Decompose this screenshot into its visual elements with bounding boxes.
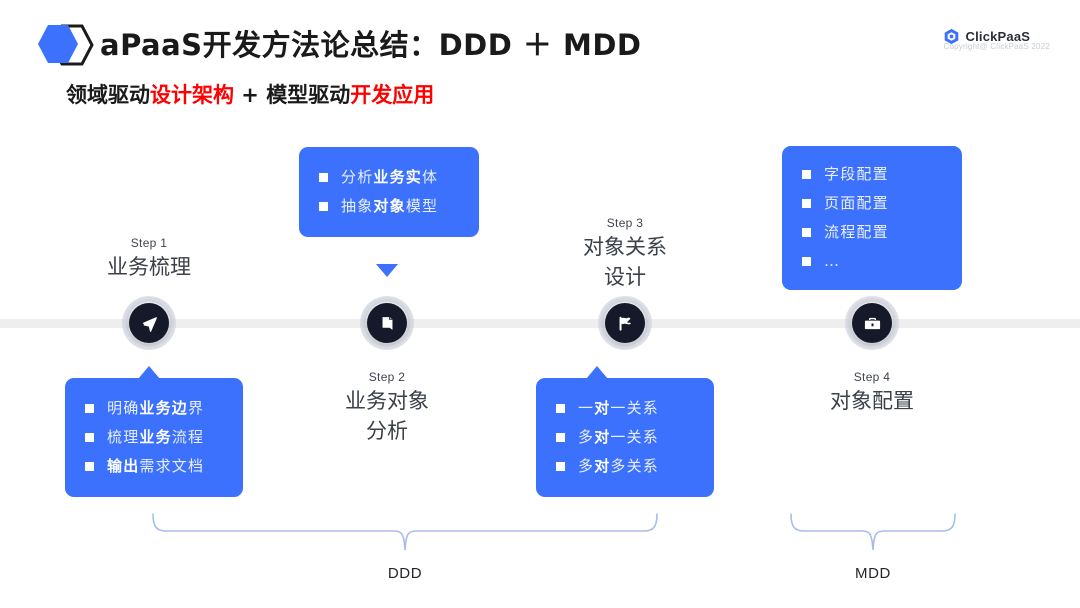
step-number-4: Step 4 xyxy=(782,368,962,386)
step-caption-2: Step 2 业务对象 分析 xyxy=(297,368,477,446)
callout-list-3: 一对一关系 多对一关系 多对多关系 xyxy=(556,394,696,481)
brace-label-ddd: DDD xyxy=(305,565,505,582)
briefcase-icon xyxy=(852,303,892,343)
item-text-a: 流程配置 xyxy=(824,218,889,247)
subtitle-part-1: 领域驱动 xyxy=(66,83,150,107)
bullet-square-icon xyxy=(85,404,94,413)
list-item: 明确业务边界 xyxy=(85,394,225,423)
bullet-square-icon xyxy=(802,228,811,237)
bullet-square-icon xyxy=(802,199,811,208)
subtitle-part-4: 模型驱动 xyxy=(266,83,350,107)
page-subtitle: 领域驱动设计架构 + 模型驱动开发应用 xyxy=(66,79,434,109)
item-text-b: 对 xyxy=(594,452,610,481)
copyright-text: Copyright@ ClickPaaS 2022 xyxy=(943,42,1050,51)
item-text-a: 字段配置 xyxy=(824,160,889,189)
item-text-c: 流程 xyxy=(172,423,204,452)
list-item: 输出需求文档 xyxy=(85,452,225,481)
item-text-c: 需求文档 xyxy=(139,452,204,481)
item-text-a: 多 xyxy=(578,452,594,481)
item-text-b: 业务 xyxy=(139,423,171,452)
bullet-square-icon xyxy=(85,462,94,471)
callout-box-step-1: 明确业务边界 梳理业务流程 输出需求文档 xyxy=(65,378,243,497)
list-item: 多对一关系 xyxy=(556,423,696,452)
item-text-b: 输出 xyxy=(107,452,139,481)
timeline-node-step-3[interactable] xyxy=(598,296,652,350)
slide-canvas: aPaaS开发方法论总结：DDD ＋ MDD 领域驱动设计架构 + 模型驱动开发… xyxy=(0,0,1080,608)
subtitle-part-2: 设计架构 xyxy=(150,83,234,107)
callout-list-2: 分析业务实体 抽象对象模型 xyxy=(319,163,461,221)
item-text-b: 对 xyxy=(594,394,610,423)
bullet-square-icon xyxy=(556,404,565,413)
item-text-c: 体 xyxy=(422,163,438,192)
bullet-square-icon xyxy=(319,173,328,182)
step-caption-1: Step 1 业务梳理 xyxy=(59,234,239,282)
item-text-c: 一关系 xyxy=(610,394,659,423)
list-item: 一对一关系 xyxy=(556,394,696,423)
bullet-square-icon xyxy=(556,462,565,471)
callout-tail-2 xyxy=(376,264,398,277)
page-title: aPaaS开发方法论总结：DDD ＋ MDD xyxy=(100,22,641,64)
item-text-a: 页面配置 xyxy=(824,189,889,218)
step-title-4: 对象配置 xyxy=(782,386,962,416)
list-item: 多对多关系 xyxy=(556,452,696,481)
item-text-b: 业务边 xyxy=(139,394,188,423)
bullet-square-icon xyxy=(85,433,94,442)
list-item: 梳理业务流程 xyxy=(85,423,225,452)
item-text-a: 分析 xyxy=(341,163,373,192)
item-text-a: … xyxy=(824,247,840,276)
bullet-square-icon xyxy=(556,433,565,442)
bullet-square-icon xyxy=(802,170,811,179)
list-item: 抽象对象模型 xyxy=(319,192,461,221)
step-number-3: Step 3 xyxy=(535,214,715,232)
brand-watermark: ClickPaaS Copyright@ ClickPaaS 2022 xyxy=(943,28,1050,51)
step-title-1: 业务梳理 xyxy=(59,252,239,282)
step-caption-4: Step 4 对象配置 xyxy=(782,368,962,416)
brace-ddd xyxy=(150,512,660,552)
item-text-a: 多 xyxy=(578,423,594,452)
step-title-3: 对象关系 设计 xyxy=(535,232,715,292)
step-number-1: Step 1 xyxy=(59,234,239,252)
timeline-node-step-2[interactable] xyxy=(360,296,414,350)
callout-box-step-2: 分析业务实体 抽象对象模型 xyxy=(299,147,479,237)
callout-tail-4 xyxy=(860,269,882,282)
list-item: 页面配置 xyxy=(802,189,944,218)
bullet-square-icon xyxy=(802,257,811,266)
item-text-b: 对象 xyxy=(373,192,405,221)
item-text-c: 一关系 xyxy=(610,423,659,452)
step-number-2: Step 2 xyxy=(297,368,477,386)
hexagon-logo-icon xyxy=(34,22,96,68)
subtitle-part-5: 开发应用 xyxy=(350,83,434,107)
item-text-c: 模型 xyxy=(406,192,438,221)
callout-list-4: 字段配置 页面配置 流程配置 … xyxy=(802,160,944,276)
subtitle-part-3: + xyxy=(234,83,266,107)
item-text-a: 明确 xyxy=(107,394,139,423)
item-text-b: 业务实 xyxy=(373,163,422,192)
brace-label-mdd: MDD xyxy=(773,565,973,582)
item-text-a: 抽象 xyxy=(341,192,373,221)
timeline-node-step-4[interactable] xyxy=(845,296,899,350)
item-text-c: 多关系 xyxy=(610,452,659,481)
timeline-node-step-1[interactable] xyxy=(122,296,176,350)
step-title-2: 业务对象 分析 xyxy=(297,386,477,446)
item-text-a: 一 xyxy=(578,394,594,423)
item-text-b: 对 xyxy=(594,423,610,452)
item-text-a: 梳理 xyxy=(107,423,139,452)
callout-box-step-3: 一对一关系 多对一关系 多对多关系 xyxy=(536,378,714,497)
bullet-square-icon xyxy=(319,202,328,211)
list-item: 字段配置 xyxy=(802,160,944,189)
item-text-c: 界 xyxy=(188,394,204,423)
step-caption-3: Step 3 对象关系 设计 xyxy=(535,214,715,292)
flag-icon xyxy=(605,303,645,343)
list-item: 分析业务实体 xyxy=(319,163,461,192)
list-item: 流程配置 xyxy=(802,218,944,247)
paper-plane-icon xyxy=(129,303,169,343)
book-icon xyxy=(367,303,407,343)
callout-list-1: 明确业务边界 梳理业务流程 输出需求文档 xyxy=(85,394,225,481)
brace-mdd xyxy=(788,512,958,552)
